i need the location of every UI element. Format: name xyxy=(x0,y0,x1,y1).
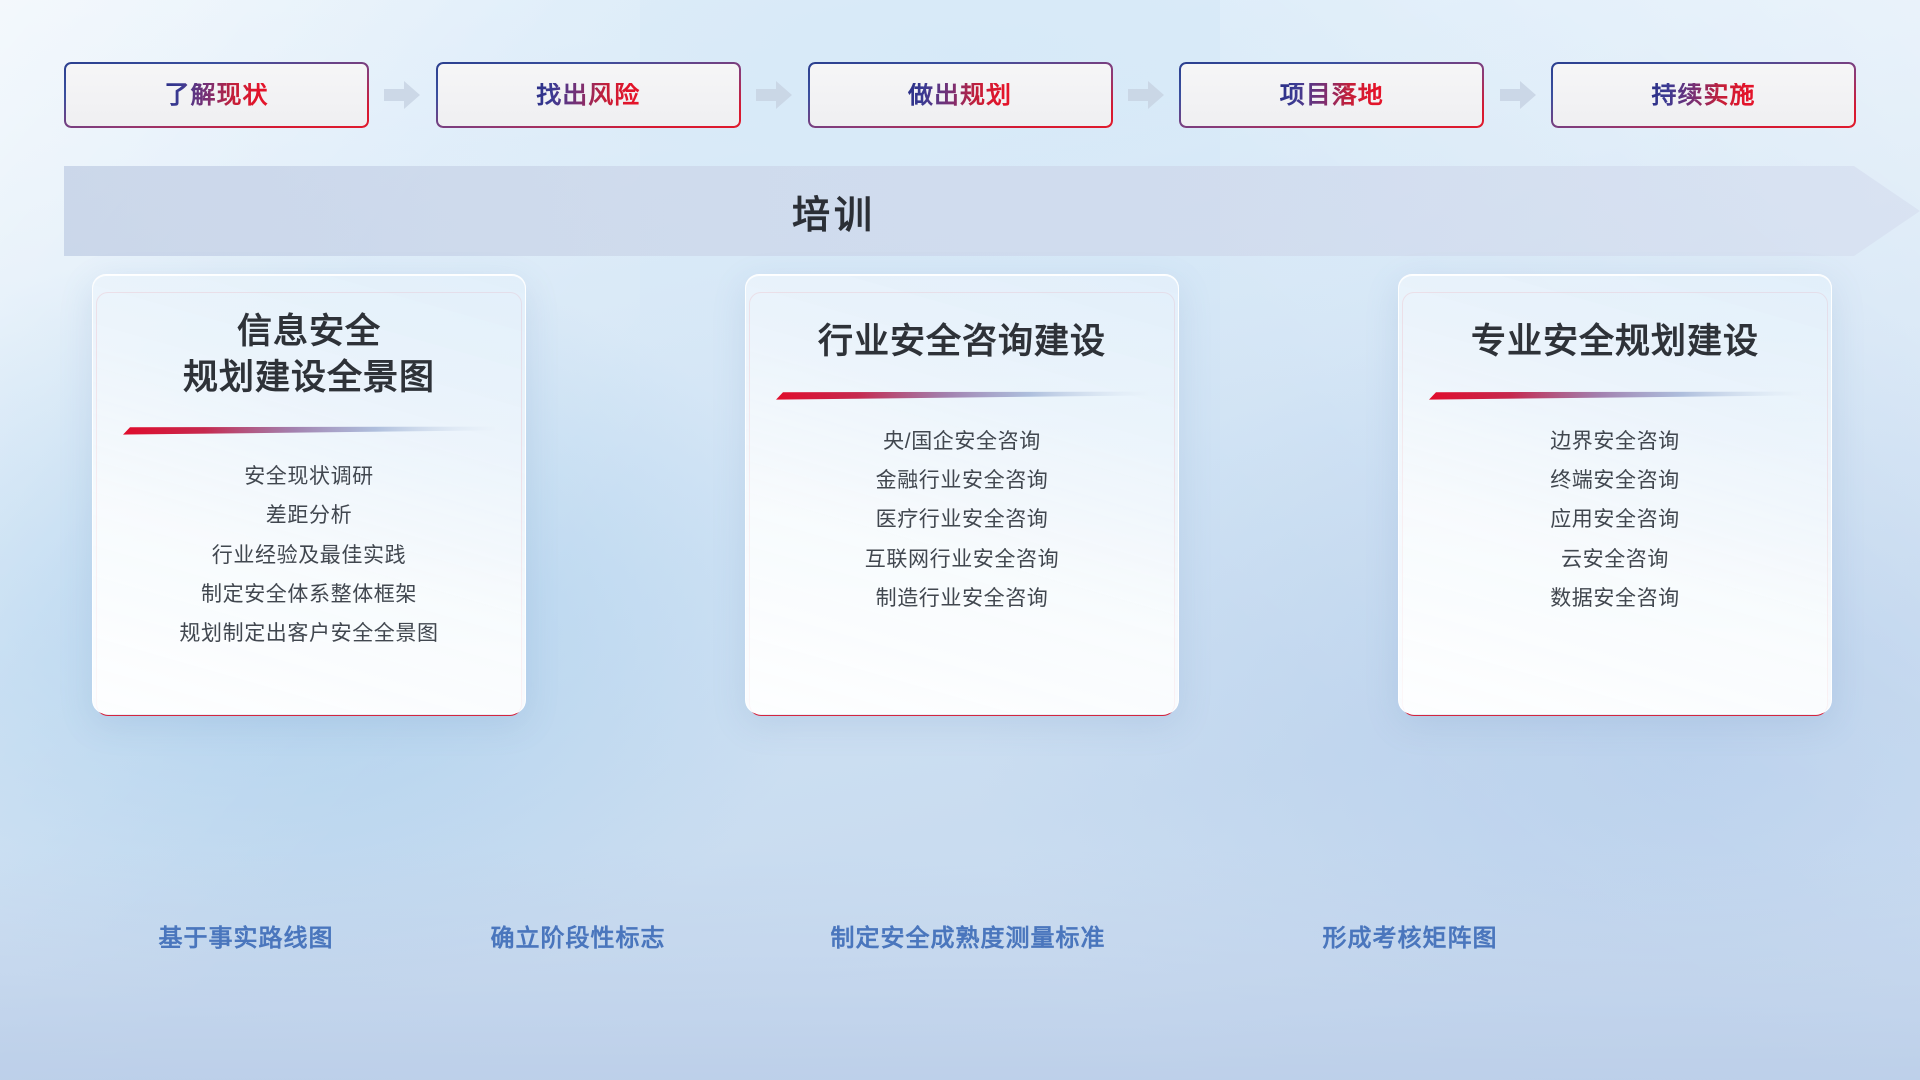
card-title-1: 信息安全 规划建设全景图 xyxy=(169,309,449,400)
footer-label-4: 形成考核矩阵图 xyxy=(1323,918,1498,953)
service-card-row: 信息安全 规划建设全景图 xyxy=(92,274,1832,714)
card-list-item: 差距分析 xyxy=(266,502,352,530)
step-arrow-icon-1 xyxy=(383,80,421,110)
step-box-3[interactable]: 做出规划 xyxy=(808,62,1113,128)
step-label-3: 做出规划 xyxy=(908,83,1012,108)
card-list-item: 规划制定出客户安全全景图 xyxy=(179,620,438,648)
card-list-item: 应用安全咨询 xyxy=(1550,506,1680,534)
card-list-item: 安全现状调研 xyxy=(244,463,374,491)
card-body-1: 信息安全 规划建设全景图 xyxy=(92,274,526,714)
step-box-5[interactable]: 持续实施 xyxy=(1551,62,1856,128)
card-list-item: 制定安全体系整体框架 xyxy=(201,581,417,609)
training-banner: 培训 xyxy=(64,166,1920,256)
step-box-1[interactable]: 了解现状 xyxy=(64,62,369,128)
card-title-line: 专业安全规划建设 xyxy=(1471,319,1759,365)
training-banner-label: 培训 xyxy=(64,166,1604,256)
card-list-item: 数据安全咨询 xyxy=(1550,585,1680,613)
service-card-2[interactable]: 行业安全咨询建设 xyxy=(745,274,1179,714)
footer-label-row: 基于事实路线图 确立阶段性标志 制定安全成熟度测量标准 形成考核矩阵图 xyxy=(0,918,1920,962)
card-list-item: 央/国企安全咨询 xyxy=(883,428,1041,456)
card-list-1: 安全现状调研 差距分析 行业经验及最佳实践 制定安全体系整体框架 规划制定出客户… xyxy=(93,463,525,649)
card-divider-3 xyxy=(1429,391,1801,400)
card-title-3: 专业安全规划建设 xyxy=(1457,319,1773,365)
step-arrow-icon-4 xyxy=(1499,80,1537,110)
slide-canvas: 了解现状 找出风险 做出规划 项目落地 xyxy=(0,0,1920,1080)
step-label-5: 持续实施 xyxy=(1651,83,1755,108)
card-list-2: 央/国企安全咨询 金融行业安全咨询 医疗行业安全咨询 互联网行业安全咨询 制造行… xyxy=(746,428,1178,614)
step-label-4: 项目落地 xyxy=(1280,83,1384,108)
footer-label-1: 基于事实路线图 xyxy=(159,918,334,953)
service-card-3[interactable]: 专业安全规划建设 xyxy=(1398,274,1832,714)
step-label-2: 找出风险 xyxy=(536,83,640,108)
card-list-item: 云安全咨询 xyxy=(1561,546,1669,574)
step-arrow-icon-2 xyxy=(755,80,793,110)
card-body-2: 行业安全咨询建设 xyxy=(745,274,1179,714)
card-title-line: 规划建设全景图 xyxy=(183,355,435,401)
step-arrow-icon-3 xyxy=(1127,80,1165,110)
card-list-3: 边界安全咨询 终端安全咨询 应用安全咨询 云安全咨询 数据安全咨询 xyxy=(1399,428,1831,614)
card-list-item: 医疗行业安全咨询 xyxy=(876,506,1049,534)
footer-label-3: 制定安全成熟度测量标准 xyxy=(831,918,1106,953)
card-list-item: 制造行业安全咨询 xyxy=(876,585,1049,613)
background-bottom-fade xyxy=(0,850,1920,1080)
card-title-2: 行业安全咨询建设 xyxy=(804,319,1120,365)
card-list-item: 终端安全咨询 xyxy=(1550,467,1680,495)
process-step-row: 了解现状 找出风险 做出规划 项目落地 xyxy=(64,62,1856,128)
step-label-1: 了解现状 xyxy=(164,83,268,108)
card-list-item: 边界安全咨询 xyxy=(1550,428,1680,456)
card-divider-1 xyxy=(123,426,495,435)
card-title-line: 行业安全咨询建设 xyxy=(818,319,1106,365)
service-card-1[interactable]: 信息安全 规划建设全景图 xyxy=(92,274,526,714)
step-box-4[interactable]: 项目落地 xyxy=(1179,62,1484,128)
card-body-3: 专业安全规划建设 xyxy=(1398,274,1832,714)
footer-label-2: 确立阶段性标志 xyxy=(491,918,666,953)
card-list-item: 行业经验及最佳实践 xyxy=(212,542,406,570)
card-title-line: 信息安全 xyxy=(183,309,435,355)
card-divider-2 xyxy=(776,391,1148,400)
card-list-item: 金融行业安全咨询 xyxy=(876,467,1049,495)
card-list-item: 互联网行业安全咨询 xyxy=(865,546,1059,574)
step-box-2[interactable]: 找出风险 xyxy=(436,62,741,128)
